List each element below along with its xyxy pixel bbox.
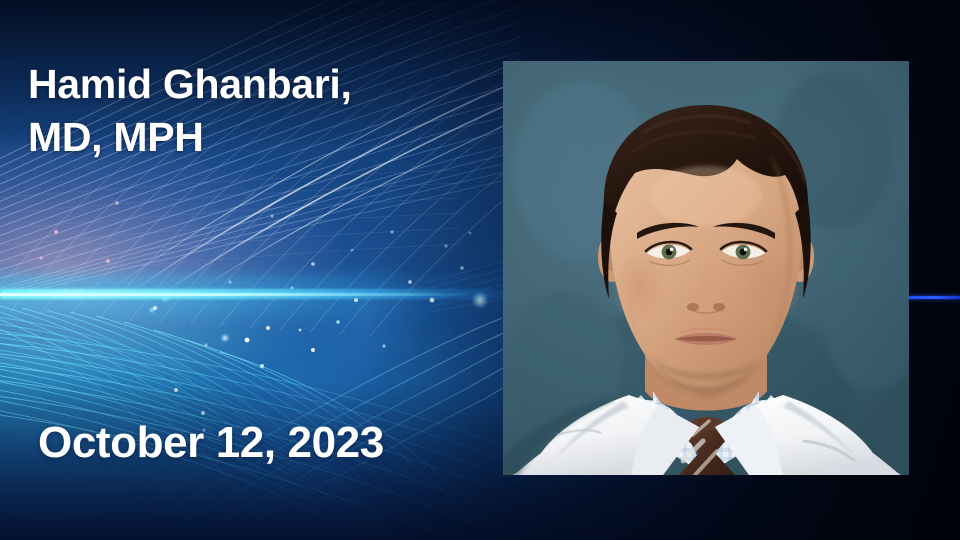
speaker-headshot [503,61,909,475]
blue-accent-rule [908,296,960,299]
event-date: October 12, 2023 [38,418,384,468]
page-title: Hamid Ghanbari, MD, MPH [28,58,488,164]
speaker-title-slide: Hamid Ghanbari, MD, MPH October 12, 2023 [0,0,960,540]
headshot-artwork [503,61,909,475]
light-beam-core [0,293,470,296]
